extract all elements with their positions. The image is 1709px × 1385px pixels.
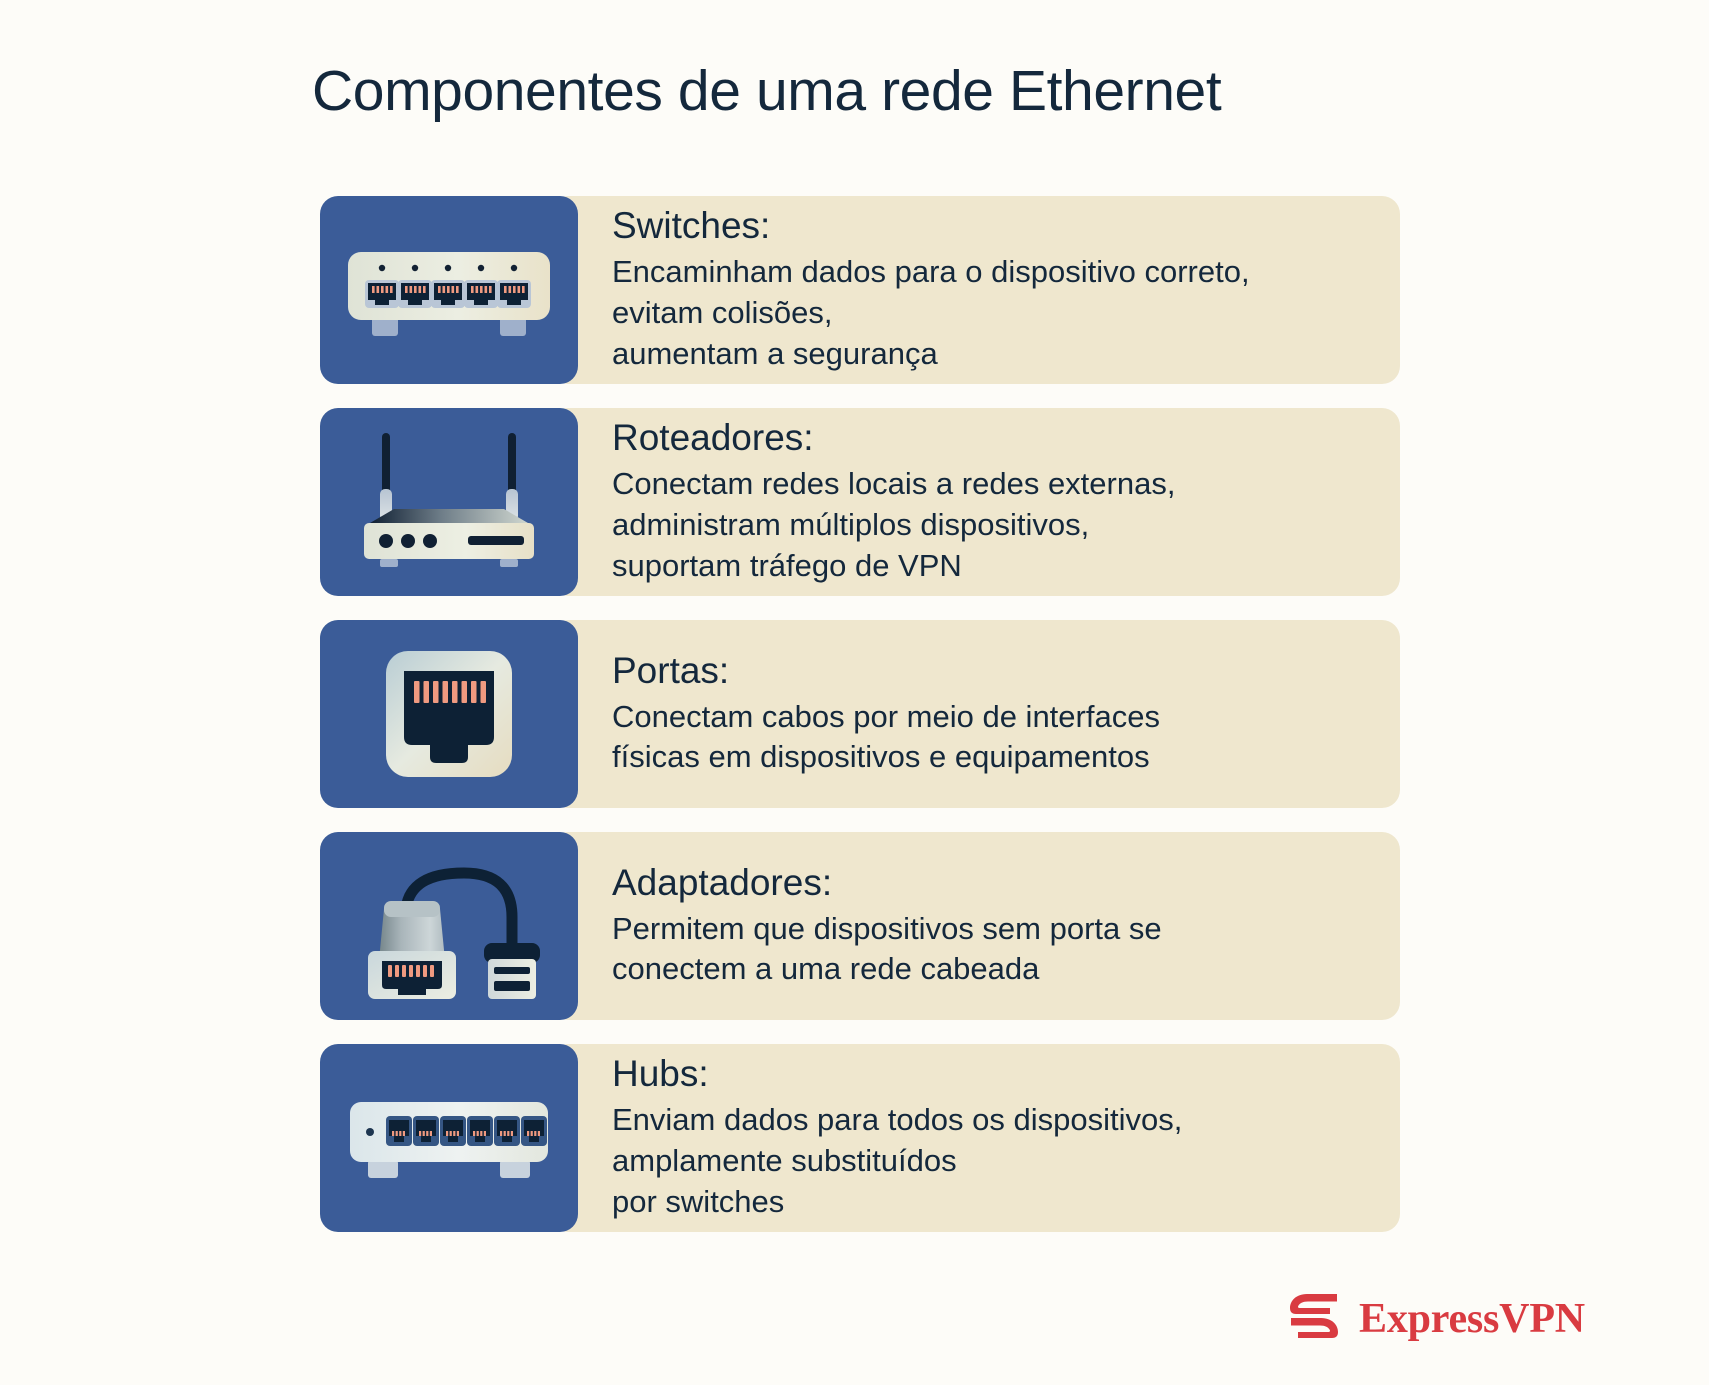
text-panel-router: Roteadores: Conectam redes locais a rede… <box>550 408 1400 596</box>
icon-tile-adapter <box>320 832 578 1020</box>
wifi-router-icon <box>320 408 578 596</box>
list-item: Switches: Encaminham dados para o dispos… <box>320 196 1400 384</box>
list-item-description: Conectam redes locais a redes externas, … <box>612 464 1360 587</box>
list-item-title: Adaptadores: <box>612 862 1360 905</box>
list-item-description: Permitem que dispositivos sem porta se c… <box>612 909 1360 991</box>
list-item-description: Encaminham dados para o dispositivo corr… <box>612 252 1360 375</box>
expressvpn-logo-mark <box>1283 1285 1345 1352</box>
brand-logo-text: ExpressVPN <box>1359 1295 1585 1343</box>
list-item: Portas: Conectam cabos por meio de inter… <box>320 620 1400 808</box>
infographic-page: Componentes de uma rede Ethernet <box>0 0 1709 1385</box>
icon-tile-router <box>320 408 578 596</box>
list-item-title: Switches: <box>612 205 1360 248</box>
icon-tile-hub <box>320 1044 578 1232</box>
list-item-title: Portas: <box>612 650 1360 693</box>
list-item-title: Hubs: <box>612 1053 1360 1096</box>
page-title: Componentes de uma rede Ethernet <box>312 58 1221 124</box>
network-switch-icon <box>320 196 578 384</box>
ethernet-adapter-icon <box>320 832 578 1020</box>
text-panel-switch: Switches: Encaminham dados para o dispos… <box>550 196 1400 384</box>
network-hub-icon <box>320 1044 578 1232</box>
icon-tile-port <box>320 620 578 808</box>
text-panel-hub: Hubs: Enviam dados para todos os disposi… <box>550 1044 1400 1232</box>
text-panel-adapter: Adaptadores: Permitem que dispositivos s… <box>550 832 1400 1020</box>
list-item-description: Conectam cabos por meio de interfaces fí… <box>612 697 1360 779</box>
list-item: Hubs: Enviam dados para todos os disposi… <box>320 1044 1400 1232</box>
list-item-description: Enviam dados para todos os dispositivos,… <box>612 1100 1360 1223</box>
list-item: Adaptadores: Permitem que dispositivos s… <box>320 832 1400 1020</box>
ethernet-port-icon <box>320 620 578 808</box>
list-item: Roteadores: Conectam redes locais a rede… <box>320 408 1400 596</box>
brand-logo: ExpressVPN <box>1283 1285 1585 1352</box>
list-item-title: Roteadores: <box>612 417 1360 460</box>
icon-tile-switch <box>320 196 578 384</box>
component-list: Switches: Encaminham dados para o dispos… <box>320 196 1400 1232</box>
text-panel-port: Portas: Conectam cabos por meio de inter… <box>550 620 1400 808</box>
